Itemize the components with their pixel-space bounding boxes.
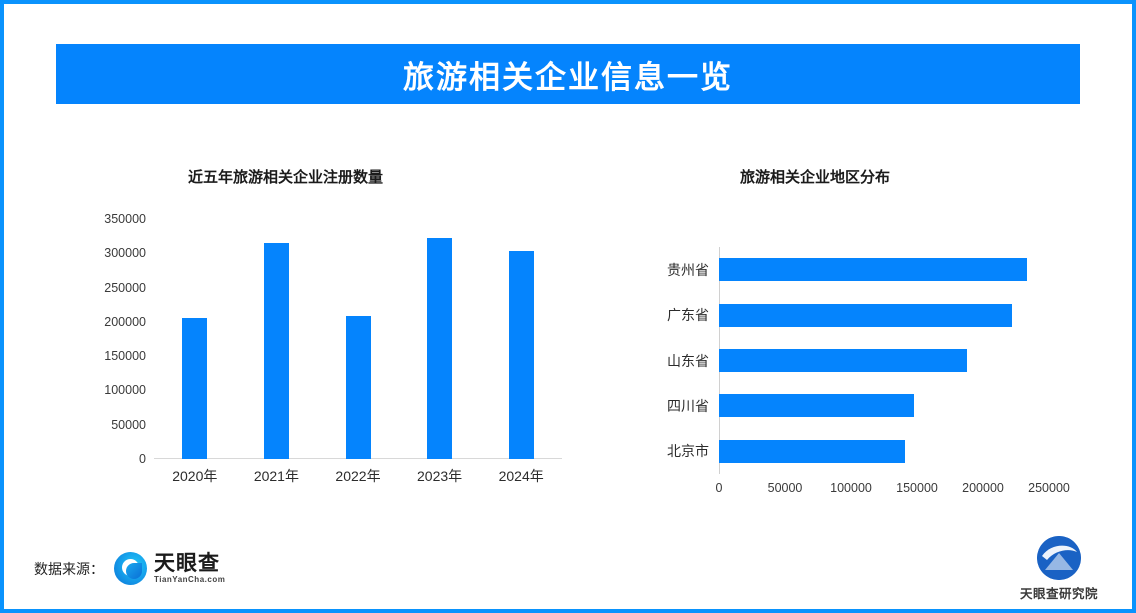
left-chart-y-tick: 50000 — [64, 418, 146, 432]
research-institute-logo-icon — [1037, 536, 1081, 580]
header-banner: 旅游相关企业信息一览 — [56, 44, 1080, 104]
region-distribution-chart-panel: 旅游相关企业地区分布 贵州省广东省山东省四川省北京市 0500001000001… — [624, 144, 1084, 514]
right-chart-category-label: 北京市 — [624, 441, 709, 461]
left-chart-bar — [427, 238, 452, 459]
right-chart-category-label: 四川省 — [624, 396, 709, 416]
left-chart-bar — [509, 251, 534, 459]
data-source-label: 数据来源： — [34, 559, 104, 579]
left-chart-y-tick: 100000 — [64, 383, 146, 397]
left-chart-bar — [346, 316, 371, 459]
right-chart-x-tick: 200000 — [962, 481, 1004, 495]
left-chart-x-tick: 2020年 — [172, 466, 217, 486]
research-institute-brand: 天眼查研究院 — [1020, 536, 1098, 602]
right-chart-category-label: 山东省 — [624, 351, 709, 371]
left-chart-y-tick: 300000 — [64, 246, 146, 260]
infographic-page: 旅游相关企业信息一览 近五年旅游相关企业注册数量 050000100000150… — [0, 0, 1136, 613]
left-chart-bar — [264, 243, 289, 459]
left-chart-title: 近五年旅游相关企业注册数量 — [188, 166, 383, 187]
tianyancha-logo: 天眼查 TianYanCha.com — [114, 552, 225, 585]
tianyancha-wordmark: 天眼查 TianYanCha.com — [154, 553, 225, 584]
right-chart-x-tick: 150000 — [896, 481, 938, 495]
tianyancha-logo-cn: 天眼查 — [154, 553, 225, 574]
right-chart-x-tick: 50000 — [768, 481, 803, 495]
tianyancha-mark-icon — [114, 552, 147, 585]
left-chart-y-tick: 150000 — [64, 349, 146, 363]
right-chart-x-tick: 100000 — [830, 481, 872, 495]
data-source: 数据来源： 天眼查 TianYanCha.com — [34, 552, 225, 585]
right-chart-bar — [719, 349, 967, 372]
right-chart-bar — [719, 394, 914, 417]
registration-count-chart-panel: 近五年旅游相关企业注册数量 05000010000015000020000025… — [64, 144, 584, 514]
left-chart-y-tick: 350000 — [64, 212, 146, 226]
right-chart-category-label: 贵州省 — [624, 260, 709, 280]
right-chart-bar — [719, 440, 905, 463]
left-chart-x-tick: 2021年 — [254, 466, 299, 486]
left-chart-y-tick: 200000 — [64, 315, 146, 329]
page-title: 旅游相关企业信息一览 — [403, 52, 733, 97]
research-institute-name: 天眼查研究院 — [1020, 583, 1098, 602]
right-chart-title: 旅游相关企业地区分布 — [740, 166, 890, 187]
right-chart-bar — [719, 304, 1012, 327]
right-chart-category-label: 广东省 — [624, 305, 709, 325]
left-chart-y-tick: 0 — [64, 452, 146, 466]
left-chart-y-tick: 250000 — [64, 281, 146, 295]
tianyancha-logo-en: TianYanCha.com — [154, 576, 225, 584]
left-chart-x-tick: 2024年 — [499, 466, 544, 486]
right-chart-x-tick: 250000 — [1028, 481, 1070, 495]
left-chart-x-tick: 2023年 — [417, 466, 462, 486]
right-chart-bar — [719, 258, 1027, 281]
left-chart-x-tick: 2022年 — [335, 466, 380, 486]
right-chart-x-tick: 0 — [716, 481, 723, 495]
left-chart-bar — [182, 318, 207, 459]
